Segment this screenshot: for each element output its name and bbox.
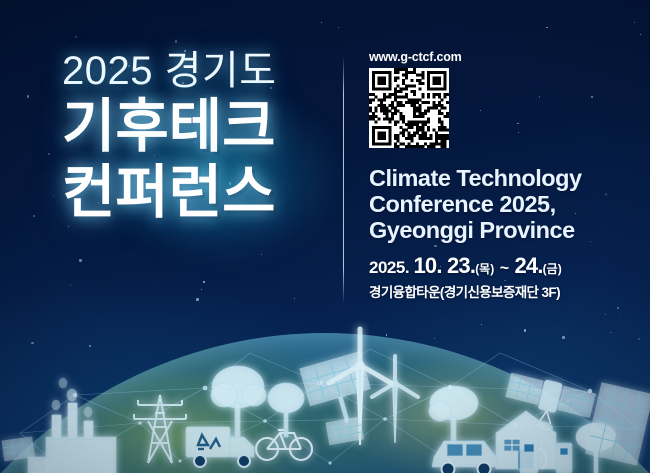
date-range-separator: ~	[499, 260, 510, 277]
english-title-line2: Conference 2025,	[369, 191, 639, 217]
info-block: www.g-ctcf.com Climate Technology Confer…	[369, 50, 639, 301]
date-day-2: 24.	[514, 253, 542, 278]
title-line-conference: 컨퍼런스	[62, 162, 330, 224]
event-venue: 경기융합타운(경기신용보증재단 3F)	[369, 281, 639, 301]
date-weekday-2: (금)	[543, 262, 562, 276]
date-year: 2025.	[369, 258, 409, 277]
english-title-line3: Gyeonggi Province	[369, 217, 639, 243]
poster-canvas: 2025 경기도 기후테크 컨퍼런스 www.g-ctcf.com Climat…	[0, 0, 650, 473]
website-url[interactable]: www.g-ctcf.com	[369, 50, 639, 64]
title-line-year-region: 2025 경기도	[62, 48, 330, 94]
qr-code[interactable]	[369, 68, 449, 148]
english-title: Climate Technology Conference 2025, Gyeo…	[369, 165, 639, 243]
event-date: 2025. 10. 23.(목) ~ 24.(금)	[369, 253, 639, 279]
date-month-day: 10. 23.	[414, 253, 476, 278]
date-weekday-1: (목)	[475, 262, 494, 276]
korean-title-block: 2025 경기도 기후테크 컨퍼런스	[62, 48, 330, 224]
english-title-line1: Climate Technology	[369, 165, 639, 191]
vertical-divider	[343, 58, 344, 302]
title-line-climate-tech: 기후테크	[62, 96, 330, 158]
